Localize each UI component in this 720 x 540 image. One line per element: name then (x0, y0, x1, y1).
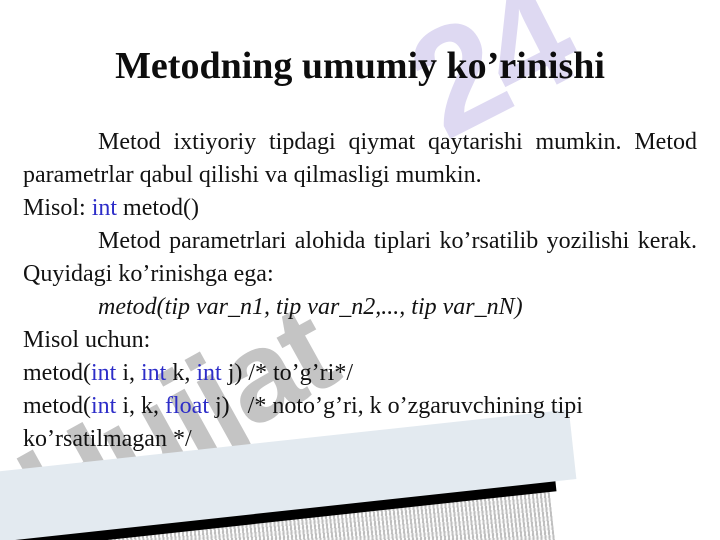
slide-content: Metodning umumiy ko’rinishi Metod ixtiyo… (0, 0, 720, 540)
code-line-correct: metod(int i, int k, int j) /* to’g’ri*/ (23, 357, 697, 390)
code-separator: i, k, (116, 393, 165, 419)
code-prefix: metod( (23, 360, 91, 386)
paragraph-return-types: Metod ixtiyoriy tipdagi qiymat qaytarish… (23, 126, 697, 192)
code-separator: k, (166, 360, 196, 386)
page-title: Metodning umumiy ko’rinishi (0, 44, 720, 88)
keyword-float: float (165, 393, 209, 419)
example-label: Misol: (23, 195, 92, 221)
keyword-int: int (196, 360, 221, 386)
code-separator: i, (116, 360, 141, 386)
code-comment-correct: j) /* to’g’ri*/ (222, 360, 353, 386)
method-signature-template: metod(tip var_n1, tip var_n2,..., tip va… (23, 291, 697, 324)
example-signature: metod() (117, 195, 199, 221)
paragraph-parameter-types: Metod parametrlari alohida tiplari ko’rs… (23, 225, 697, 291)
code-line-incorrect: metod(int i, k, float j)/* noto’g’ri, k … (23, 390, 697, 456)
code-prefix: metod( (23, 393, 91, 419)
keyword-int: int (92, 195, 117, 221)
example-declaration-line: Misol: int metod() (23, 192, 697, 225)
body-text-block: Metod ixtiyoriy tipdagi qiymat qaytarish… (23, 126, 697, 456)
for-example-label: Misol uchun: (23, 324, 697, 357)
slide-canvas: 24 Hujjat Metodning umumiy ko’rinishi Me… (0, 0, 720, 540)
keyword-int: int (91, 393, 116, 419)
keyword-int: int (141, 360, 166, 386)
code-close-paren: j) (209, 393, 230, 419)
keyword-int: int (91, 360, 116, 386)
